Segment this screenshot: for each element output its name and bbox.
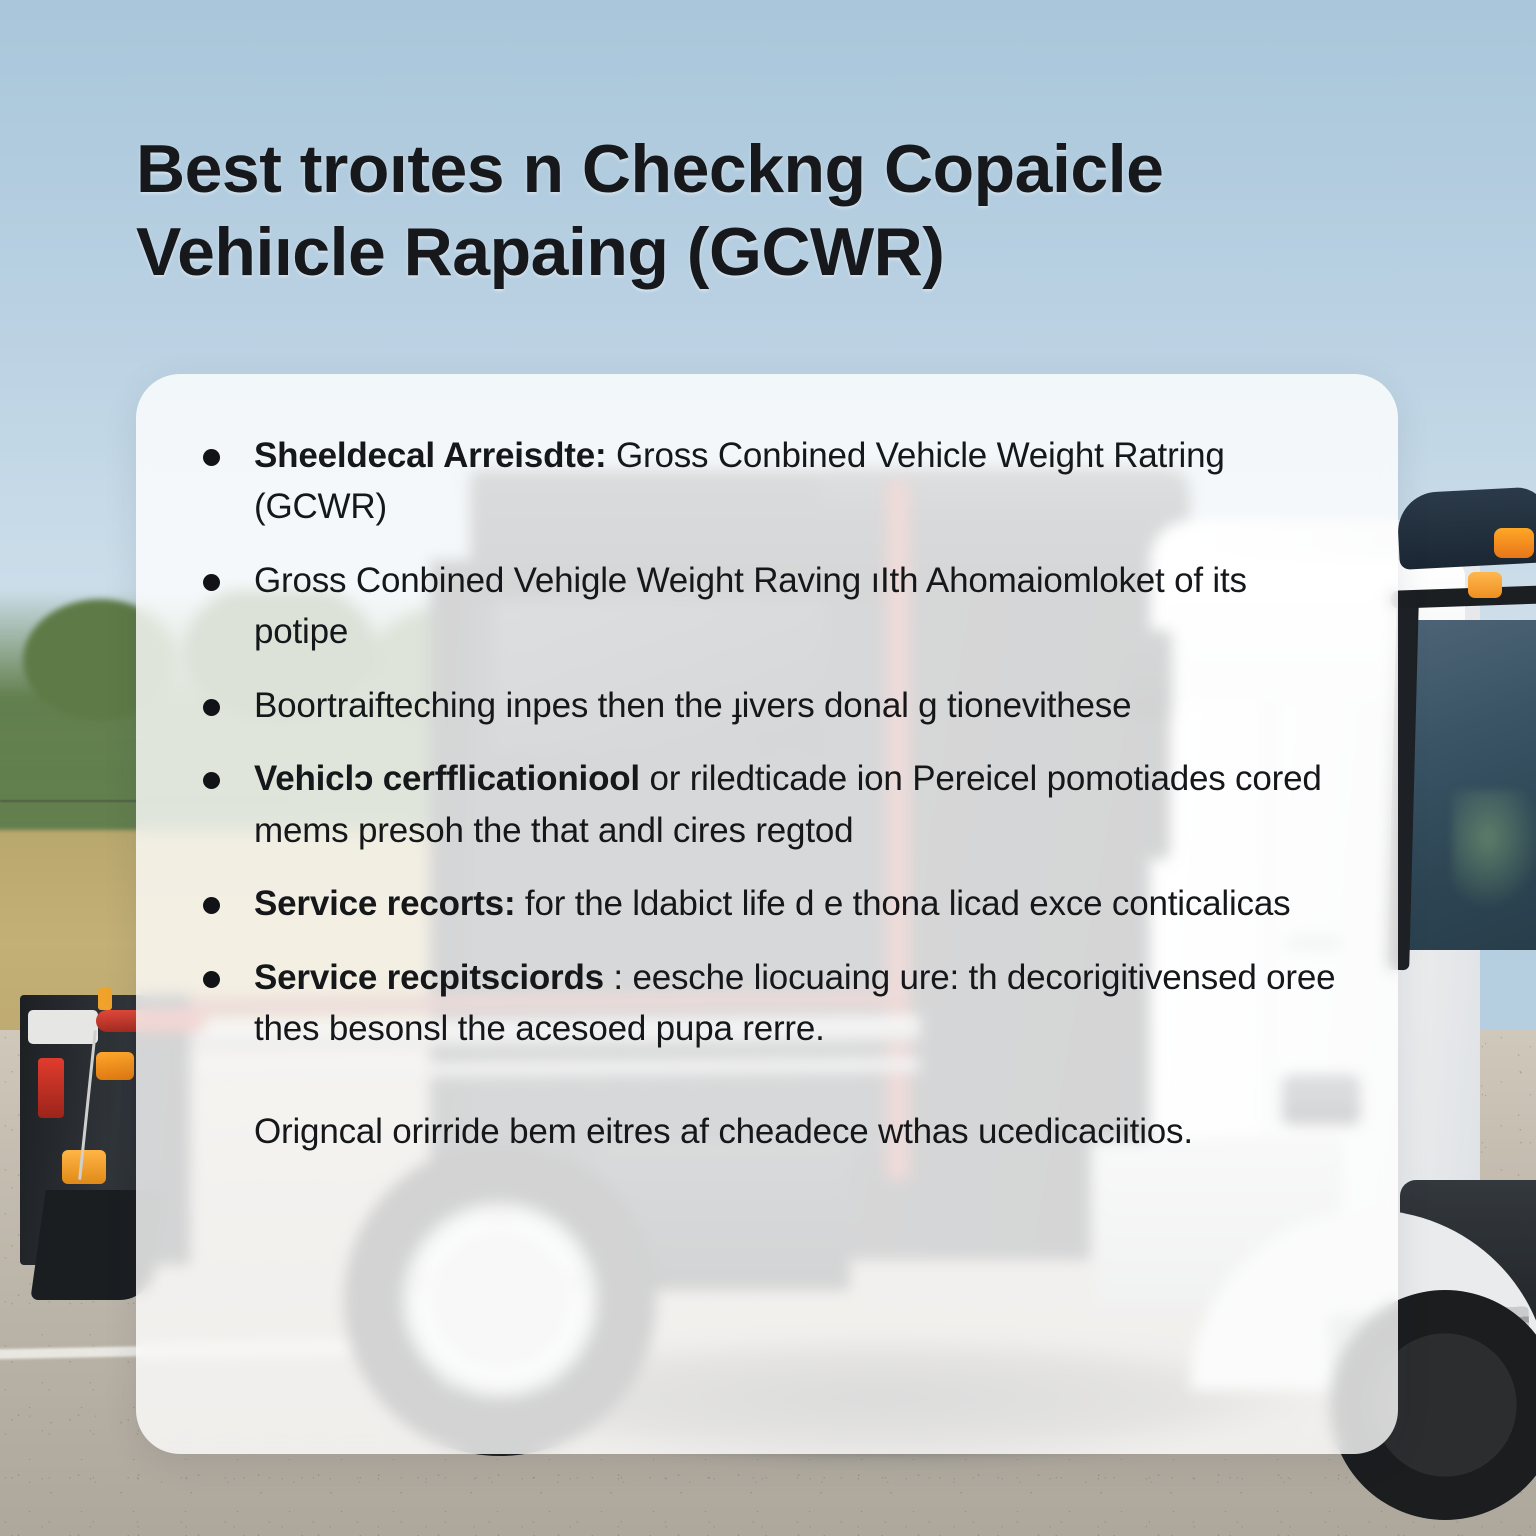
rear-tail-light-red xyxy=(38,1058,64,1118)
rear-amber-strip xyxy=(98,988,112,1010)
list-item-rest: for the ldabict life d e thona licad xyxy=(515,884,1019,923)
content-card: Sheeldecal Arreisdte: Gross Conbined Veh… xyxy=(136,374,1398,1454)
page-title: Best troıtes n Checkng Copaicle Vehiıcle… xyxy=(136,128,1436,294)
rear-hose-box xyxy=(28,1010,98,1044)
list-item-bold: Sheeldecal Arreisdte: xyxy=(254,436,606,475)
list-item: Vehiclɔ cerfflicationiool or riledticade… xyxy=(170,753,1338,856)
list-item: Gross Conbined Vehigle Weight Raving ıIt… xyxy=(170,555,1338,658)
list-item-rest: Gross Conbined Vehigle Weight Raving ıIt… xyxy=(254,561,918,600)
list-item-bold: Vehiclɔ cerfflicationiool xyxy=(254,759,640,798)
list-item: Service recorts: for the ldabict life d … xyxy=(170,878,1338,929)
list-item-rest: or riledticade ion xyxy=(640,759,903,798)
list-item-bold: Service recpitsciords xyxy=(254,958,604,997)
amber-beacon-light xyxy=(1494,528,1534,558)
list-item-continuation: tionevithese xyxy=(947,686,1131,725)
rear-marker-light-amber xyxy=(96,1052,134,1080)
list-item: Boortraifteching inpes then the ɟivers d… xyxy=(170,680,1338,731)
list-item-continuation: exce conticalicas xyxy=(1029,884,1290,923)
list-item: Service recpitsciords : eesche liocuaing… xyxy=(170,952,1338,1055)
page-title-line-1: Best troıtes n Checkng Copaicle xyxy=(136,128,1436,211)
list-item-bold: Service recorts: xyxy=(254,884,515,923)
list-item-rest: : eesche liocuaing ure: th xyxy=(604,958,997,997)
amber-beacon-light-secondary xyxy=(1468,572,1502,598)
windscreen-reflection xyxy=(1452,790,1536,910)
list-item: Sheeldecal Arreisdte: Gross Conbined Veh… xyxy=(170,430,1338,533)
list-item-rest: Boortraifteching inpes then the ɟivers d… xyxy=(254,686,937,725)
rear-marker-light-amber-lower xyxy=(62,1150,106,1184)
bullet-list: Sheeldecal Arreisdte: Gross Conbined Veh… xyxy=(170,430,1338,1054)
closing-paragraph: Origncal orirride bem eitres af cheadece… xyxy=(170,1106,1338,1157)
page-title-line-2: Vehiıcle Rapaing (GCWR) xyxy=(136,211,1436,294)
